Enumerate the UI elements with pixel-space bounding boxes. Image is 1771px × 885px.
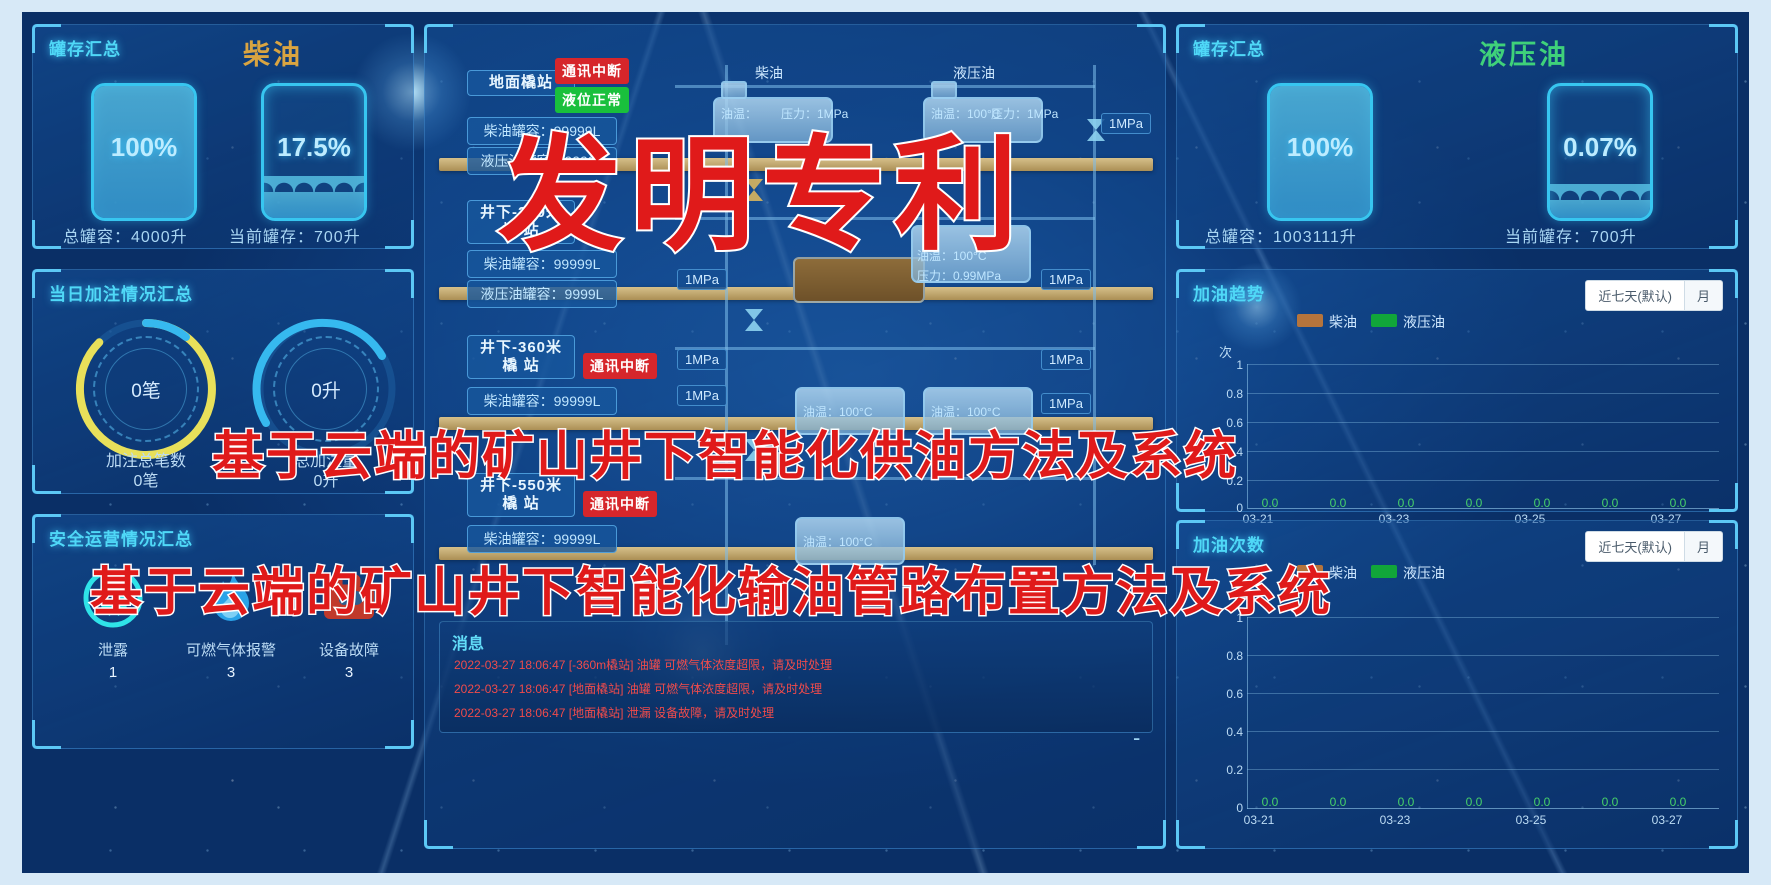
pressure-tag: 1MPa	[677, 385, 727, 406]
valve-icon	[743, 307, 765, 333]
time-range-selector[interactable]: 近七天(默认) 月	[1585, 280, 1723, 311]
station-label-360m[interactable]: 井下-360米 橇 站	[467, 335, 575, 379]
data-point-label: 0.0	[1325, 795, 1351, 809]
safety-item-label: 泄露	[53, 639, 173, 660]
grid-line	[1247, 422, 1719, 423]
pressure-tag: 1MPa	[1041, 393, 1091, 414]
data-point-label: 0.0	[1529, 496, 1555, 510]
tank-percent-value: 0.07%	[1550, 132, 1650, 163]
pressure-tag: 1MPa	[1041, 269, 1091, 290]
legend-swatch-hydraulic	[1371, 314, 1397, 327]
x-tick: 03-27	[1645, 813, 1689, 827]
grid-line	[1247, 769, 1719, 770]
safety-item-value: 1	[53, 664, 173, 681]
status-badge-comm-interrupt: 通讯中断	[583, 491, 657, 517]
panel-title: 罐存汇总	[49, 35, 121, 60]
oil-type-label-hydraulic: 液压油	[1479, 33, 1569, 72]
refuel-trend-panel: 加油趋势 近七天(默认) 月 柴油 液压油 次 1 0.8 0.6 0.4 0.…	[1176, 269, 1738, 512]
tab-month[interactable]: 月	[1684, 532, 1722, 561]
x-tick: 03-25	[1509, 813, 1553, 827]
tank-gauge-total: 100%	[1267, 83, 1373, 221]
tab-last-seven-days[interactable]: 近七天(默认)	[1586, 532, 1684, 561]
tank-total-capacity-label: 总罐容：4000升	[63, 223, 188, 247]
panel-title: 当日加注情况汇总	[49, 280, 193, 305]
tank-percent-value: 100%	[94, 132, 194, 163]
data-point-label: 0.0	[1665, 496, 1691, 510]
legend-swatch-diesel	[1297, 314, 1323, 327]
panel-title: 安全运营情况汇总	[49, 525, 193, 550]
gauge-caption-value: 0笔	[71, 472, 221, 492]
watermark-line-2: 基于云端的矿山井下智能化输油管路布置方法及系统	[90, 550, 1332, 625]
data-point-label: 0.0	[1257, 795, 1283, 809]
grid-line	[1247, 393, 1719, 394]
panel-title: 罐存汇总	[1193, 35, 1265, 60]
oil-type-label-diesel: 柴油	[243, 33, 303, 72]
y-tick: 0.8	[1215, 387, 1243, 401]
tank-summary-panel-diesel: 罐存汇总 柴油 100% 总罐容：4000升 17.5% 当前罐存：700升	[32, 24, 414, 249]
time-range-selector[interactable]: 近七天(默认) 月	[1585, 531, 1723, 562]
data-point-label: 0.0	[1393, 496, 1419, 510]
panel-title: 加油趋势	[1193, 280, 1265, 305]
gauge-caption: 加注总笔数 0笔	[71, 452, 221, 492]
tank-total-capacity-label: 总罐容：1003111升	[1205, 223, 1357, 247]
gauge-refuel-count: 0笔	[71, 314, 221, 464]
device-temp-label: 油温：100°C	[803, 533, 873, 550]
tank-gauge-total: 100%	[91, 83, 197, 221]
y-tick: 0.4	[1215, 725, 1243, 739]
status-badge-comm-interrupt: 通讯中断	[583, 353, 657, 379]
grid-line	[1247, 364, 1719, 365]
pressure-tag: 1MPa	[1041, 349, 1091, 370]
pressure-tag: 1MPa	[1101, 113, 1151, 134]
tab-last-seven-days[interactable]: 近七天(默认)	[1586, 281, 1684, 310]
status-badge-comm-interrupt: 通讯中断	[555, 58, 629, 84]
data-point-label: 0.0	[1393, 795, 1419, 809]
x-tick: 03-21	[1237, 813, 1281, 827]
device-name-hydraulic: 液压油	[953, 63, 995, 83]
safety-item-value: 3	[289, 664, 409, 681]
tank-current-stock-label: 当前罐存：700升	[229, 223, 361, 247]
message-log-line: 2022-03-27 18:06:47 [地面橇站] 泄漏 设备故障，请及时处理	[454, 704, 774, 721]
dashboard-screen: 罐存汇总 柴油 100% 总罐容：4000升 17.5% 当前罐存：700升 当…	[22, 12, 1749, 873]
grid-line	[1247, 731, 1719, 732]
data-point-label: 0.0	[1461, 795, 1487, 809]
data-point-label: 0.0	[1257, 496, 1283, 510]
legend-label-diesel: 柴油	[1329, 565, 1357, 581]
station-diesel-capacity: 柴油罐容：99999L	[467, 387, 617, 415]
data-point-label: 0.0	[1665, 795, 1691, 809]
data-point-label: 0.0	[1597, 795, 1623, 809]
grid-line	[1247, 655, 1719, 656]
grid-line	[1247, 480, 1719, 481]
y-tick: 0.6	[1215, 687, 1243, 701]
message-log-title: 消息	[452, 630, 484, 654]
station-diesel-capacity: 柴油罐容：99999L	[467, 525, 617, 553]
y-tick: 1	[1215, 358, 1243, 372]
legend-label-diesel: 柴油	[1329, 314, 1357, 330]
tank-gauge-current: 0.07%	[1547, 83, 1653, 221]
legend-label-hydraulic: 液压油	[1403, 314, 1445, 330]
x-tick: 03-23	[1373, 813, 1417, 827]
chart-legend: 柴油 液压油	[1297, 312, 1445, 332]
safety-item-label: 可燃气体报警	[171, 639, 291, 660]
y-tick: 0.2	[1215, 763, 1243, 777]
tank-percent-value: 17.5%	[264, 132, 364, 163]
tank-percent-value: 100%	[1270, 132, 1370, 163]
grid-line	[1247, 693, 1719, 694]
tab-month[interactable]: 月	[1684, 281, 1722, 310]
data-point-label: 0.0	[1597, 496, 1623, 510]
watermark-patent-title: 发明专利	[498, 94, 1026, 274]
tank-summary-panel-hydraulic: 罐存汇总 液压油 100% 总罐容：1003111升 0.07% 当前罐存：70…	[1176, 24, 1738, 249]
pressure-tag: 1MPa	[677, 349, 727, 370]
y-tick: 0.8	[1215, 649, 1243, 663]
y-axis-line	[1247, 364, 1248, 508]
dashboard-screenshot: 罐存汇总 柴油 100% 总罐容：4000升 17.5% 当前罐存：700升 当…	[0, 0, 1771, 885]
tank-gauge-current: 17.5%	[261, 83, 367, 221]
horizontal-pipe	[675, 347, 1095, 350]
zoom-out-button[interactable]: -	[1133, 725, 1140, 751]
watermark-line-1: 基于云端的矿山井下智能化供油方法及系统	[212, 414, 1238, 489]
station-hydraulic-capacity: 液压油罐容：9999L	[467, 280, 617, 308]
legend-swatch-hydraulic	[1371, 565, 1397, 578]
legend-label-hydraulic: 液压油	[1403, 565, 1445, 581]
device-name-diesel: 柴油	[755, 63, 783, 83]
gauge-value: 0笔	[71, 314, 221, 464]
data-point-label: 0.0	[1461, 496, 1487, 510]
message-log-line: 2022-03-27 18:06:47 [地面橇站] 油罐 可燃气体浓度超限，请…	[454, 680, 822, 697]
data-point-label: 0.0	[1325, 496, 1351, 510]
gauge-caption-title: 加注总笔数	[71, 452, 221, 472]
grid-line	[1247, 451, 1719, 452]
message-log-line: 2022-03-27 18:06:47 [-360m橇站] 油罐 可燃气体浓度超…	[454, 656, 832, 673]
data-point-label: 0.0	[1529, 795, 1555, 809]
message-log-box[interactable]: 消息 2022-03-27 18:06:47 [-360m橇站] 油罐 可燃气体…	[439, 621, 1153, 733]
y-axis-line	[1247, 617, 1248, 809]
tank-current-stock-label: 当前罐存：700升	[1505, 223, 1637, 247]
safety-item-label: 设备故障	[289, 639, 409, 660]
safety-item-value: 3	[171, 664, 291, 681]
